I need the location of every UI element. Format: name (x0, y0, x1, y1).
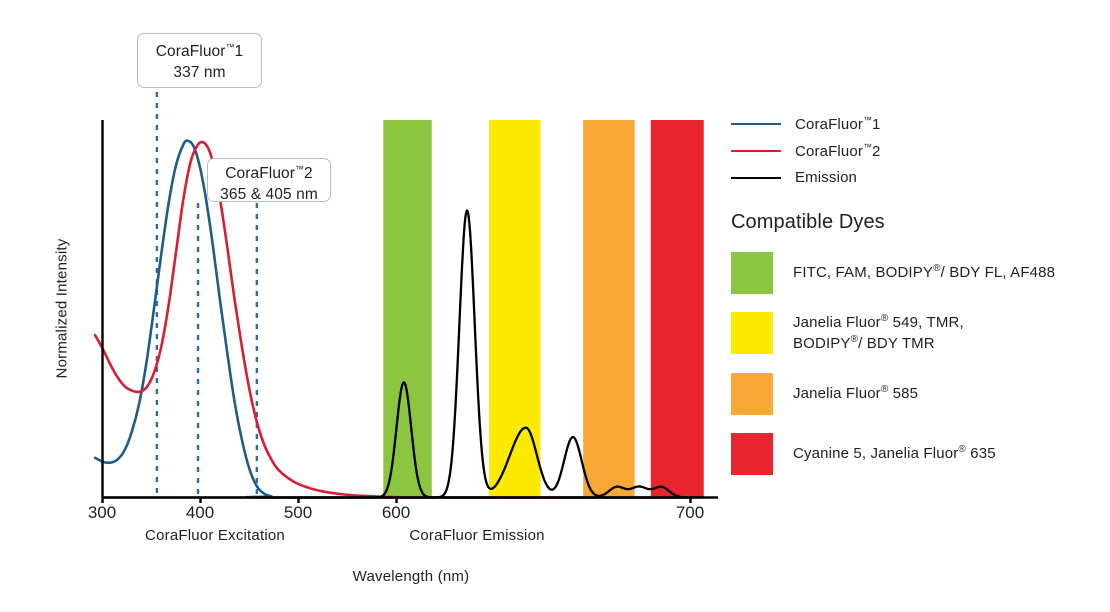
x-axis-label: Wavelength (nm) (353, 568, 470, 585)
trademark-icon: ™ (863, 115, 872, 125)
marker-callout-corafluor2: CoraFluor™2 365 & 405 nm (207, 158, 331, 202)
legend-row-0: CoraFluor™1 (731, 110, 1103, 137)
legend-series-list: CoraFluor™1CoraFluor™2Emission (731, 110, 1103, 191)
dye-label-1: Janelia Fluor® 549, TMR,BODIPY®/ BDY TMR (793, 312, 964, 355)
dye-band-3 (651, 120, 704, 498)
legend-line-swatch-0 (731, 123, 781, 125)
callout-1-title: CoraFluor™1 (156, 43, 244, 60)
callout-2-value: 365 & 405 nm (208, 185, 330, 206)
registered-icon: ® (933, 263, 941, 274)
legend-label-0: CoraFluor™1 (795, 115, 881, 133)
registered-icon: ® (958, 444, 966, 455)
dye-row-3: Cyanine 5, Janelia Fluor® 635 (731, 433, 1103, 475)
dye-color-swatch-1 (731, 312, 773, 354)
y-axis-label: Normalized Intensity (54, 214, 71, 404)
x-tick-300: 300 (88, 503, 116, 523)
dye-label-0: FITC, FAM, BODIPY®/ BDY FL, AF488 (793, 262, 1055, 283)
legend-line-swatch-2 (731, 177, 781, 179)
registered-icon: ® (851, 334, 859, 345)
dye-band-0 (383, 120, 432, 498)
axis-group-label-excitation: CoraFluor Excitation (145, 527, 285, 544)
axis-group-label-emission: CoraFluor Emission (409, 527, 544, 544)
compatible-dyes-list: FITC, FAM, BODIPY®/ BDY FL, AF488Janelia… (731, 252, 1103, 475)
legend-label-2: Emission (795, 169, 857, 186)
marker-callout-corafluor1: CoraFluor™1 337 nm (137, 33, 262, 88)
callout-1-value: 337 nm (138, 63, 261, 84)
x-tick-500: 500 (284, 503, 312, 523)
dye-color-swatch-3 (731, 433, 773, 475)
legend: CoraFluor™1CoraFluor™2Emission Compatibl… (731, 110, 1103, 475)
dye-color-swatch-2 (731, 373, 773, 415)
dye-band-2 (583, 120, 634, 498)
x-tick-600: 600 (382, 503, 410, 523)
dye-color-swatch-0 (731, 252, 773, 294)
legend-label-1: CoraFluor™2 (795, 142, 881, 160)
dye-row-1: Janelia Fluor® 549, TMR,BODIPY®/ BDY TMR (731, 312, 1103, 355)
legend-row-2: Emission (731, 164, 1103, 191)
spectra-figure: CoraFluor™1 337 nm CoraFluor™2 365 & 405… (0, 0, 1110, 612)
dye-row-2: Janelia Fluor® 585 (731, 373, 1103, 415)
x-tick-700: 700 (676, 503, 704, 523)
dye-row-0: FITC, FAM, BODIPY®/ BDY FL, AF488 (731, 252, 1103, 294)
legend-row-1: CoraFluor™2 (731, 137, 1103, 164)
legend-line-swatch-1 (731, 150, 781, 152)
callout-2-title: CoraFluor™2 (225, 165, 313, 182)
registered-icon: ® (881, 384, 889, 395)
compatible-dyes-heading: Compatible Dyes (731, 211, 1103, 234)
x-tick-400: 400 (186, 503, 214, 523)
dye-band-group (383, 120, 703, 498)
trademark-icon: ™ (863, 142, 872, 152)
dye-label-3: Cyanine 5, Janelia Fluor® 635 (793, 443, 996, 464)
dye-label-2: Janelia Fluor® 585 (793, 383, 918, 404)
registered-icon: ® (881, 313, 889, 324)
